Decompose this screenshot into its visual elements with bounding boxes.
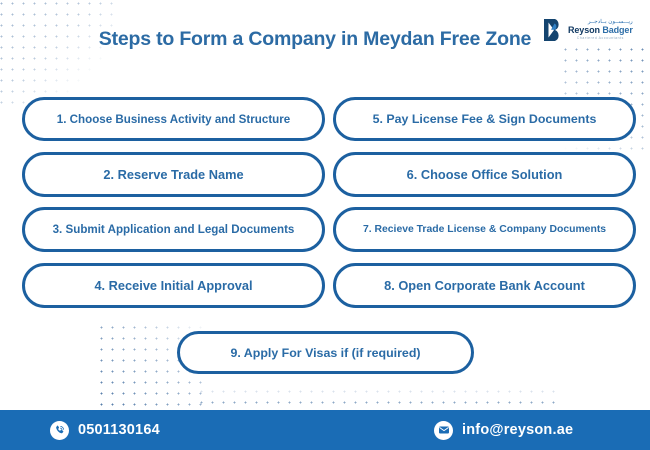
step-label-4: 4. Receive Initial Approval [94, 278, 252, 293]
footer-email-address: info@reyson.ae [462, 422, 573, 438]
contact-footer: 0501130164 info@reyson.ae [0, 410, 650, 450]
step-card-7[interactable]: 7. Recieve Trade License & Company Docum… [333, 207, 636, 252]
step-label-9: 9. Apply For Visas if (if required) [230, 346, 420, 360]
footer-email[interactable]: info@reyson.ae [434, 421, 573, 440]
footer-phone[interactable]: 0501130164 [50, 421, 160, 440]
step-card-6[interactable]: 6. Choose Office Solution [333, 152, 636, 197]
step-card-1[interactable]: 1. Choose Business Activity and Structur… [22, 97, 325, 141]
step-card-4[interactable]: 4. Receive Initial Approval [22, 263, 325, 308]
step-card-5[interactable]: 5. Pay License Fee & Sign Documents [333, 97, 636, 141]
step-card-9[interactable]: 9. Apply For Visas if (if required) [177, 331, 474, 374]
step-card-8[interactable]: 8. Open Corporate Bank Account [333, 263, 636, 308]
step-label-3: 3. Submit Application and Legal Document… [53, 223, 295, 236]
envelope-icon [434, 421, 453, 440]
step-label-8: 8. Open Corporate Bank Account [384, 278, 585, 293]
step-label-1: 1. Choose Business Activity and Structur… [57, 113, 290, 126]
step-card-2[interactable]: 2. Reserve Trade Name [22, 152, 325, 197]
step-card-3[interactable]: 3. Submit Application and Legal Document… [22, 207, 325, 252]
infographic-canvas: Steps to Form a Company in Meydan Free Z… [0, 0, 650, 450]
step-label-2: 2. Reserve Trade Name [103, 167, 243, 182]
phone-icon [50, 421, 69, 440]
step-label-7: 7. Recieve Trade License & Company Docum… [363, 224, 606, 235]
step-label-6: 6. Choose Office Solution [407, 167, 563, 182]
step-label-5: 5. Pay License Fee & Sign Documents [373, 112, 597, 126]
footer-phone-number: 0501130164 [78, 422, 160, 438]
steps-container: 1. Choose Business Activity and Structur… [0, 0, 650, 450]
